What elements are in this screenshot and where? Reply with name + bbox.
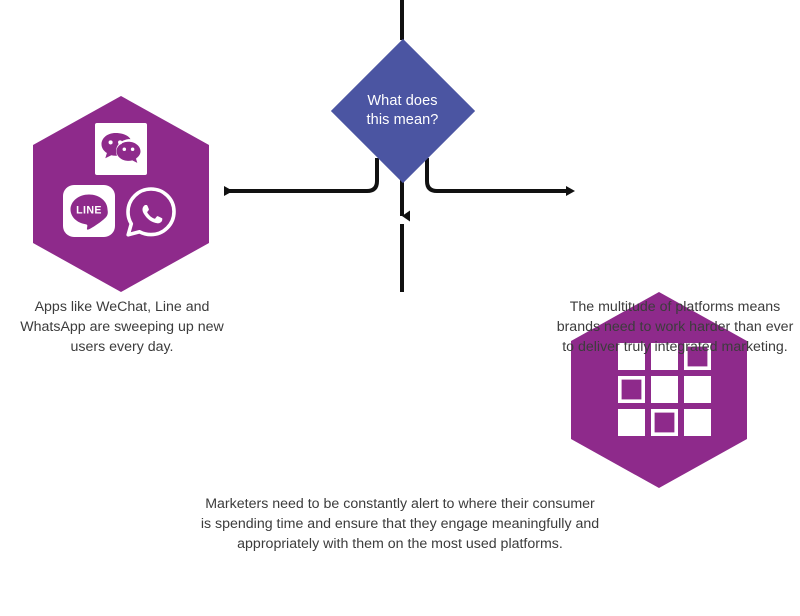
caption-bottom: Marketers need to be constantly alert to…: [200, 494, 600, 554]
diamond-label-line-1: What does: [330, 91, 475, 110]
caption-left: Apps like WeChat, Line and WhatsApp are …: [8, 297, 236, 357]
svg-text:LINE: LINE: [76, 205, 102, 217]
diamond-label: What does this mean?: [330, 91, 475, 129]
center-node-what-does-this-mean[interactable]: What does this mean?: [330, 38, 475, 183]
diamond-label-line-2: this mean?: [330, 111, 475, 130]
line-icon: LINE: [63, 185, 115, 237]
wechat-icon: [95, 123, 147, 175]
whatsapp-icon: [123, 184, 179, 240]
branch-node-left-messaging-apps[interactable]: LINE: [33, 96, 209, 292]
infographic-canvas: What does this mean? LINE: [0, 0, 800, 616]
caption-right: The multitude of platforms means brands …: [556, 297, 794, 357]
